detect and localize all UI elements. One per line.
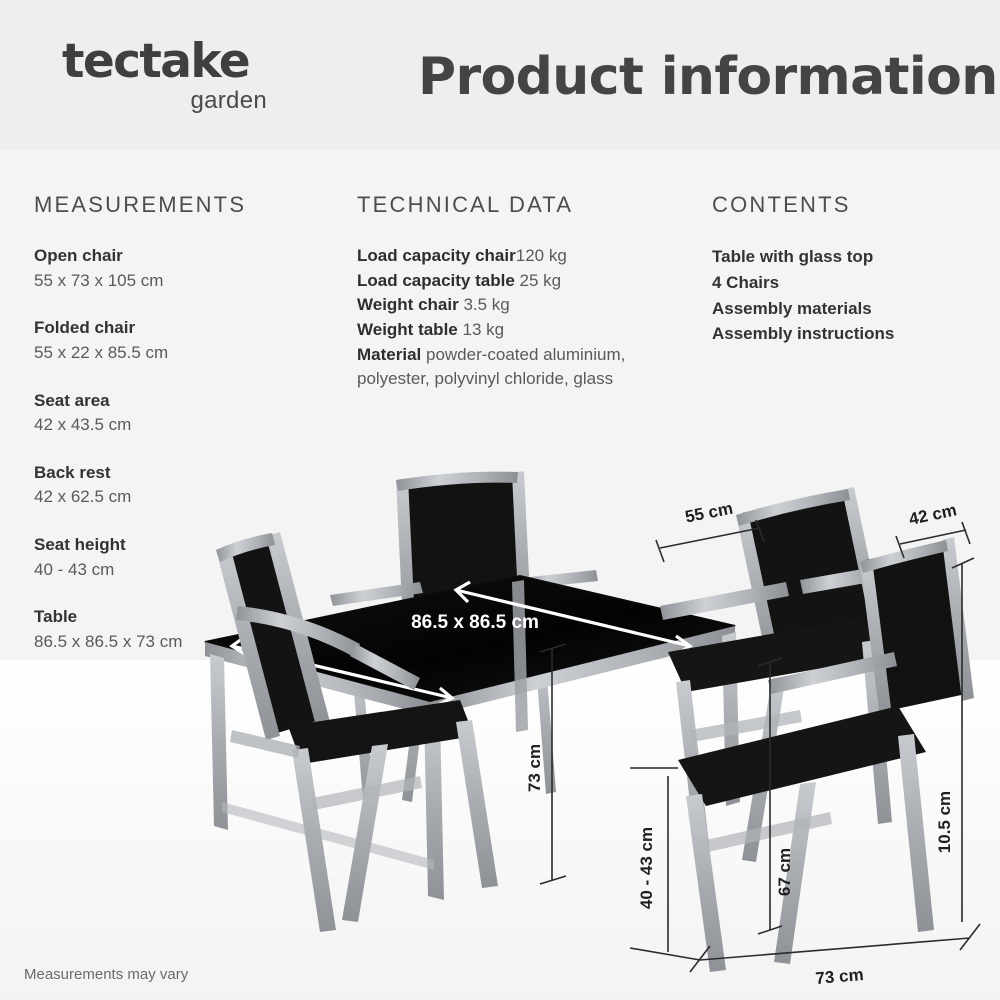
technical-label: Weight chair <box>357 295 459 314</box>
brand-logo: tectake garden <box>62 38 362 115</box>
technical-row: Load capacity chair120 kg <box>357 244 697 269</box>
contents-item: 4 Chairs <box>712 270 992 296</box>
dimension-label-backrest-width: 42 cm <box>907 500 958 529</box>
technical-data-heading: TECHNICAL DATA <box>357 192 697 218</box>
technical-row-material: Material powder-coated aluminium, polyes… <box>357 343 697 392</box>
measurement-label: Open chair <box>34 244 334 269</box>
technical-value: 25 kg <box>520 271 562 290</box>
dimension-label-backrest-height: 67 cm <box>775 848 794 896</box>
measurement-item: Open chair 55 x 73 x 105 cm <box>34 244 334 293</box>
measurements-heading: MEASUREMENTS <box>34 192 334 218</box>
brand-name: tectake <box>62 38 362 85</box>
measurement-label: Seat area <box>34 389 334 414</box>
product-information-sheet: tectake garden Product information MEASU… <box>0 0 1000 1000</box>
technical-label: Load capacity table <box>357 271 515 290</box>
technical-data-column: TECHNICAL DATA Load capacity chair120 kg… <box>357 192 697 392</box>
technical-row: Load capacity table 25 kg <box>357 269 697 294</box>
brand-subline: garden <box>62 87 267 115</box>
technical-row: Weight chair 3.5 kg <box>357 293 697 318</box>
page-title: Product information <box>418 47 998 107</box>
technical-label: Load capacity chair <box>357 246 516 265</box>
product-illustration: 86.5 x 86.5 cm <box>0 430 1000 1000</box>
measurement-value: 55 x 73 x 105 cm <box>34 269 334 294</box>
technical-row: Weight table 13 kg <box>357 318 697 343</box>
footer-disclaimer: Measurements may vary <box>24 966 188 983</box>
contents-item: Table with glass top <box>712 244 992 270</box>
dimension-label-armrest-height: 10.5 cm <box>935 791 954 853</box>
floor-backdrop <box>0 660 1000 1000</box>
dimension-label-table-height: 73 cm <box>525 744 544 792</box>
measurement-label: Folded chair <box>34 316 334 341</box>
table-top-dimension-label: 86.5 x 86.5 cm <box>411 612 539 633</box>
contents-heading: CONTENTS <box>712 192 992 218</box>
measurement-value: 55 x 22 x 85.5 cm <box>34 341 334 366</box>
page-header: tectake garden Product information <box>0 0 1000 150</box>
material-label: Material <box>357 345 421 364</box>
technical-value: 13 kg <box>462 320 504 339</box>
contents-item: Assembly materials <box>712 296 992 322</box>
dimension-label-chair-width: 55 cm <box>683 499 734 527</box>
measurement-item: Folded chair 55 x 22 x 85.5 cm <box>34 316 334 365</box>
dimension-label-seat-height: 40 - 43 cm <box>637 827 656 909</box>
technical-value: 120 kg <box>516 246 567 265</box>
contents-item: Assembly instructions <box>712 321 992 347</box>
technical-value: 3.5 kg <box>463 295 509 314</box>
technical-label: Weight table <box>357 320 458 339</box>
contents-column: CONTENTS Table with glass top 4 Chairs A… <box>712 192 992 347</box>
